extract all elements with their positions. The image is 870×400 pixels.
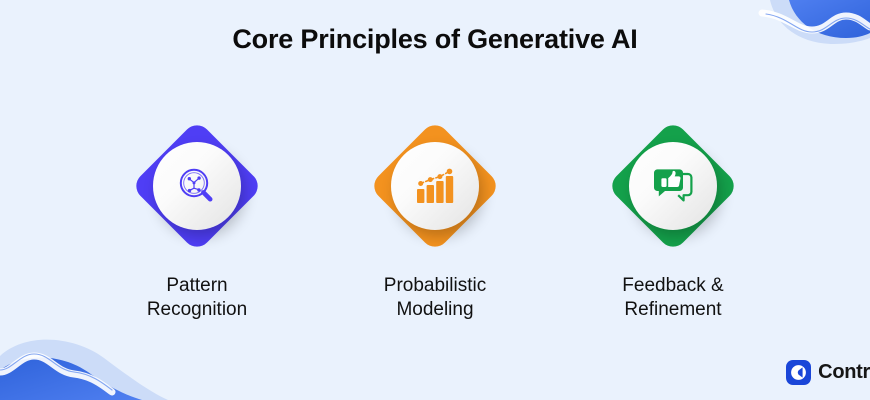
principle-label-feedback-refinement: Feedback & Refinement (622, 274, 723, 322)
c-glyph (790, 364, 807, 381)
magnifier-network-icon (176, 165, 218, 207)
bar-chart-trend-icon (414, 167, 456, 205)
icon-circle-feedback-refinement (629, 142, 717, 230)
principles-row: Pattern Recognition (0, 118, 870, 322)
principle-label-pattern-recognition: Pattern Recognition (147, 274, 247, 322)
wave-bottom-left-2 (0, 354, 112, 390)
label-line-2: Refinement (622, 298, 723, 322)
principle-badge-probabilistic-modeling (367, 118, 503, 254)
brand-logo[interactable]: Contr (782, 357, 870, 387)
icon-circle-pattern-recognition (153, 142, 241, 230)
brand-name: Contr (818, 361, 870, 384)
infographic-canvas: Core Principles of Generative AI (0, 0, 870, 400)
label-line-2: Recognition (147, 298, 247, 322)
principle-item-feedback-refinement[interactable]: Feedback & Refinement (593, 118, 753, 322)
label-line-1: Pattern (147, 274, 247, 298)
principle-label-probabilistic-modeling: Probabilistic Modeling (384, 274, 486, 322)
principle-badge-feedback-refinement (605, 118, 741, 254)
wave-bottom-left-1 (0, 356, 112, 392)
page-title: Core Principles of Generative AI (0, 22, 870, 56)
label-line-1: Probabilistic (384, 274, 486, 298)
chat-thumbs-up-icon (651, 165, 695, 207)
label-line-1: Feedback & (622, 274, 723, 298)
principle-item-pattern-recognition[interactable]: Pattern Recognition (117, 118, 277, 322)
principle-item-probabilistic-modeling[interactable]: Probabilistic Modeling (355, 118, 515, 322)
blob-bottom-left-pale (0, 340, 168, 400)
icon-circle-probabilistic-modeling (391, 142, 479, 230)
principle-badge-pattern-recognition (129, 118, 265, 254)
blob-bottom-left-main (0, 357, 142, 400)
c-logo-icon (786, 360, 811, 385)
label-line-2: Modeling (384, 298, 486, 322)
